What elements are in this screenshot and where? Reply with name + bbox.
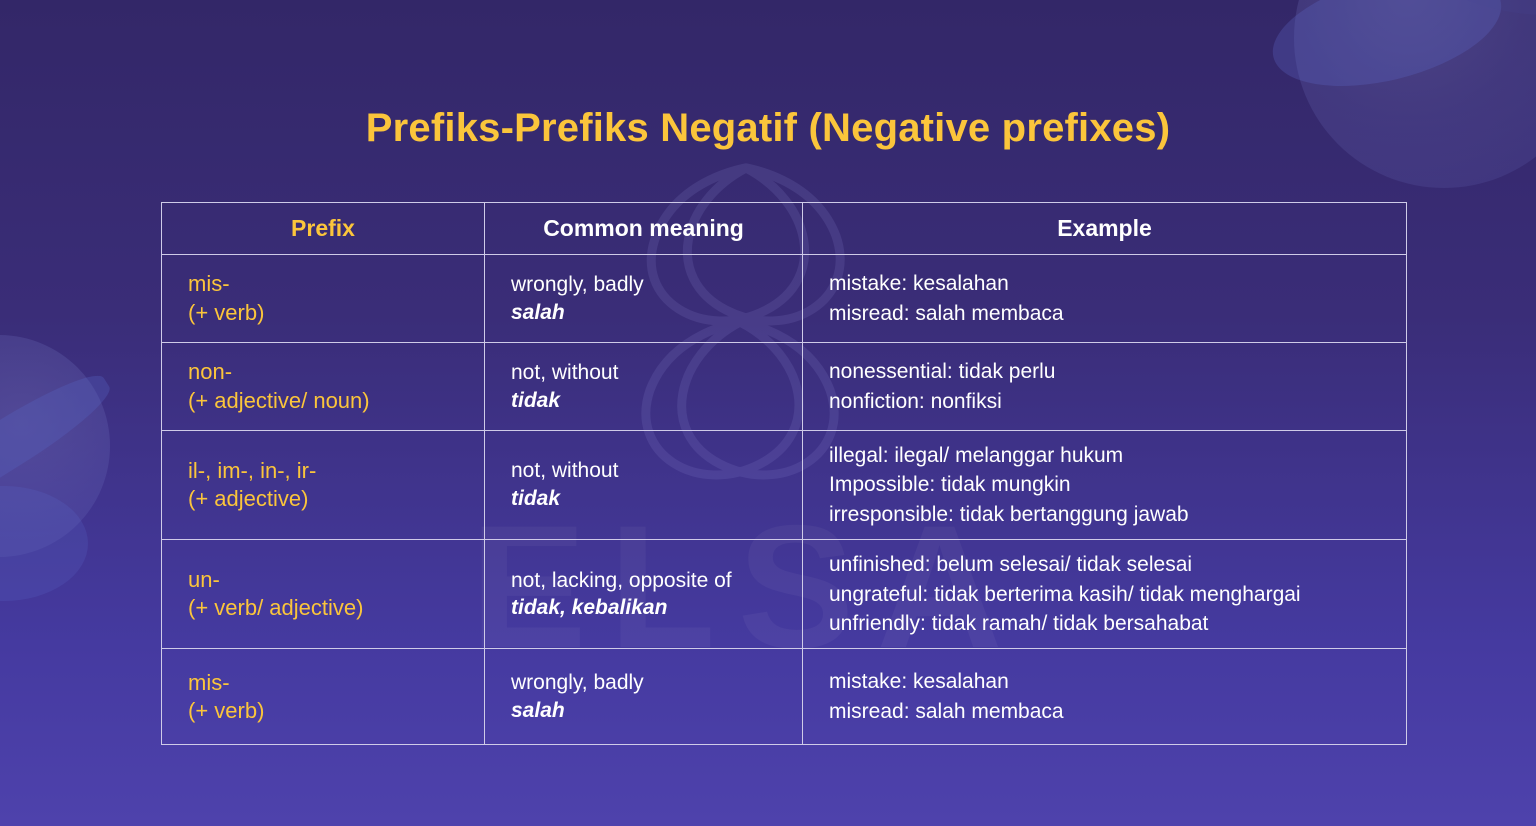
meaning-english: not, lacking, opposite of <box>511 567 776 595</box>
planet-circle-top-right-icon <box>1294 0 1536 188</box>
cell-meaning: not, without tidak <box>485 343 803 431</box>
table-row: un- (+ verb/ adjective) not, lacking, op… <box>162 540 1407 649</box>
example-line: Impossible: tidak mungkin <box>829 470 1380 499</box>
table-header: Prefix Common meaning Example <box>162 203 1407 255</box>
prefix-sub: (+ verb) <box>188 299 458 327</box>
column-header-prefix: Prefix <box>162 203 485 255</box>
prefix-sub: (+ adjective/ noun) <box>188 387 458 415</box>
cell-prefix: mis- (+ verb) <box>162 649 485 745</box>
column-header-meaning: Common meaning <box>485 203 803 255</box>
planet-circle-left-icon <box>0 335 110 557</box>
meaning-english: wrongly, badly <box>511 271 776 299</box>
cell-example: illegal: ilegal/ melanggar hukum Impossi… <box>803 431 1407 540</box>
meaning-indonesian: tidak <box>511 485 776 513</box>
cell-meaning: not, lacking, opposite of tidak, kebalik… <box>485 540 803 649</box>
meaning-indonesian: salah <box>511 697 776 725</box>
example-line: unfriendly: tidak ramah/ tidak bersahaba… <box>829 609 1380 638</box>
prefix-sub: (+ adjective) <box>188 485 458 513</box>
meaning-indonesian: tidak <box>511 387 776 415</box>
cell-example: mistake: kesalahan misread: salah membac… <box>803 255 1407 343</box>
column-header-example: Example <box>803 203 1407 255</box>
example-line: unfinished: belum selesai/ tidak selesai <box>829 550 1380 579</box>
example-line: ungrateful: tidak berterima kasih/ tidak… <box>829 580 1380 609</box>
table-row: non- (+ adjective/ noun) not, without ti… <box>162 343 1407 431</box>
table-row: mis- (+ verb) wrongly, badly salah mista… <box>162 255 1407 343</box>
table-body: mis- (+ verb) wrongly, badly salah mista… <box>162 255 1407 745</box>
prefix-main: il-, im-, in-, ir- <box>188 457 458 485</box>
meaning-english: wrongly, badly <box>511 669 776 697</box>
example-line: irresponsible: tidak bertanggung jawab <box>829 500 1380 529</box>
cell-example: mistake: kesalahan misread: salah membac… <box>803 649 1407 745</box>
example-line: mistake: kesalahan <box>829 667 1380 696</box>
cell-example: nonessential: tidak perlu nonfiction: no… <box>803 343 1407 431</box>
example-line: illegal: ilegal/ melanggar hukum <box>829 441 1380 470</box>
meaning-indonesian: tidak, kebalikan <box>511 594 776 622</box>
prefix-sub: (+ verb/ adjective) <box>188 594 458 622</box>
prefix-main: mis- <box>188 669 458 697</box>
example-line: nonessential: tidak perlu <box>829 357 1380 386</box>
meaning-english: not, without <box>511 457 776 485</box>
table-row: mis- (+ verb) wrongly, badly salah mista… <box>162 649 1407 745</box>
meaning-indonesian: salah <box>511 299 776 327</box>
cell-prefix: mis- (+ verb) <box>162 255 485 343</box>
cell-meaning: not, without tidak <box>485 431 803 540</box>
example-line: misread: salah membaca <box>829 697 1380 726</box>
cell-meaning: wrongly, badly salah <box>485 255 803 343</box>
example-line: misread: salah membaca <box>829 299 1380 328</box>
prefix-main: un- <box>188 566 458 594</box>
cell-prefix: un- (+ verb/ adjective) <box>162 540 485 649</box>
prefix-main: non- <box>188 358 458 386</box>
meaning-english: not, without <box>511 359 776 387</box>
cell-example: unfinished: belum selesai/ tidak selesai… <box>803 540 1407 649</box>
example-line: nonfiction: nonfiksi <box>829 387 1380 416</box>
prefix-sub: (+ verb) <box>188 697 458 725</box>
cell-meaning: wrongly, badly salah <box>485 649 803 745</box>
example-line: mistake: kesalahan <box>829 269 1380 298</box>
prefix-main: mis- <box>188 270 458 298</box>
page-title: Prefiks-Prefiks Negatif (Negative prefix… <box>0 106 1536 151</box>
cell-prefix: non- (+ adjective/ noun) <box>162 343 485 431</box>
table-header-row: Prefix Common meaning Example <box>162 203 1407 255</box>
cell-prefix: il-, im-, in-, ir- (+ adjective) <box>162 431 485 540</box>
negative-prefixes-table: Prefix Common meaning Example mis- (+ ve… <box>161 202 1407 745</box>
table-row: il-, im-, in-, ir- (+ adjective) not, wi… <box>162 431 1407 540</box>
